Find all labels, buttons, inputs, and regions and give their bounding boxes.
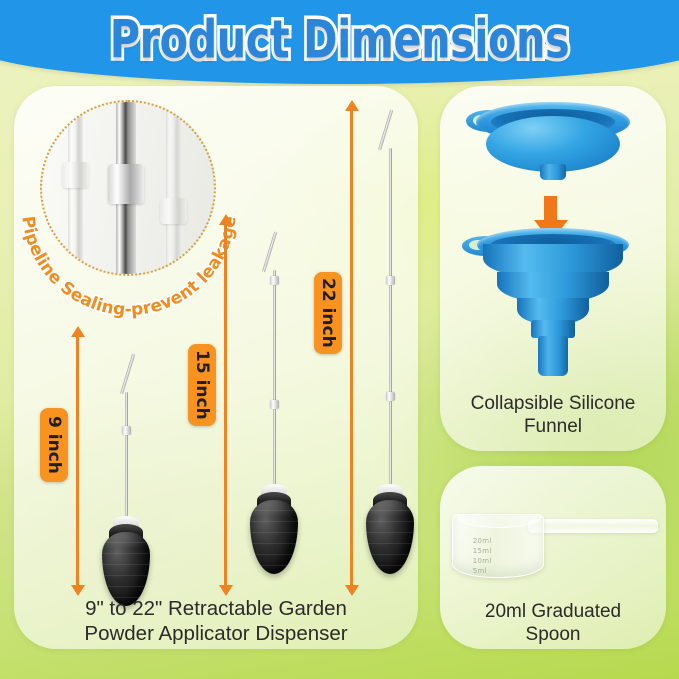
caption-line-2: Funnel [446, 415, 660, 438]
applicator-9in [84, 352, 168, 592]
seal-collar-icon [108, 164, 144, 204]
caption-line-1: 20ml Graduated [446, 600, 660, 623]
page-title: Product Dimensions [27, 9, 652, 70]
funnel-spout [538, 336, 568, 376]
tube-shaft [273, 270, 276, 492]
pipe-icon [68, 100, 83, 276]
product-dimensions-infographic: Product Dimensions Pipeline Sealing-prev… [0, 0, 679, 679]
tube-shaft [389, 148, 392, 492]
rubber-bulb [250, 500, 298, 574]
funnel-expanded [460, 228, 646, 378]
measure-arrow-15in [224, 224, 227, 586]
measure-arrow-22in [350, 110, 353, 586]
caption-line-1: 9" to 22" Retractable Garden [30, 596, 402, 621]
tube-shaft [125, 392, 128, 524]
tube-joint [386, 392, 395, 401]
pipe-icon [166, 100, 181, 276]
tube-tip [262, 231, 277, 272]
graduation-5ml: 5ml [473, 567, 487, 575]
funnel-spout [540, 164, 566, 180]
seal-collar-icon [62, 162, 89, 188]
tube-joint [270, 276, 279, 285]
tube-tip [378, 109, 393, 150]
seal-collar-icon [160, 198, 187, 224]
graduation-15ml: 15ml [473, 547, 492, 555]
badge-15in: 15 inch [188, 344, 216, 426]
caption-line-2: Spoon [446, 623, 660, 646]
spoon-rim [457, 514, 542, 528]
badge-22in: 22 inch [314, 272, 342, 354]
graduation-10ml: 10ml [473, 557, 492, 565]
tube-joint [122, 426, 131, 435]
caption-applicator: 9" to 22" Retractable Garden Powder Appl… [30, 596, 402, 646]
graduation-20ml: 20ml [473, 537, 492, 545]
funnel-collapsed [460, 100, 646, 190]
measure-arrow-9in [76, 336, 79, 586]
pipe-seal-detail-inset [40, 100, 216, 276]
caption-line-1: Collapsible Silicone [446, 392, 660, 415]
caption-line-2: Powder Applicator Dispenser [30, 621, 402, 646]
tube-tip [120, 353, 135, 394]
badge-9in: 9 inch [40, 408, 68, 482]
spoon-handle [528, 519, 658, 533]
applicator-22in [348, 108, 432, 590]
spoon-cup: 20ml 15ml 10ml 5ml [452, 514, 544, 578]
tube-joint [270, 400, 279, 409]
caption-spoon: 20ml Graduated Spoon [446, 600, 660, 646]
tube-joint [386, 276, 395, 285]
rubber-bulb [366, 500, 414, 574]
caption-funnel: Collapsible Silicone Funnel [446, 392, 660, 438]
applicator-15in [232, 230, 316, 590]
rubber-bulb [102, 532, 150, 606]
